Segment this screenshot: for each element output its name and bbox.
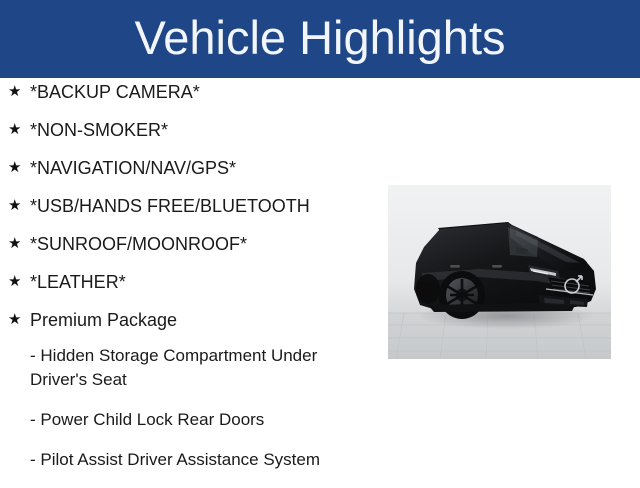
sublist-item: - Pilot Assist Driver Assistance System — [0, 448, 385, 472]
star-bullet-icon: ★ — [8, 154, 30, 182]
star-bullet-icon: ★ — [8, 230, 30, 258]
list-item-label: *LEATHER* — [30, 268, 385, 296]
vehicle-highlights-list: ★ *BACKUP CAMERA* ★ *NON-SMOKER* ★ *NAVI… — [0, 78, 385, 344]
list-item-label: Premium Package — [30, 306, 385, 334]
list-item: ★ *NON-SMOKER* — [0, 116, 385, 154]
star-bullet-icon: ★ — [8, 116, 30, 144]
list-item: ★ *SUNROOF/MOONROOF* — [0, 230, 385, 268]
vehicle-photo — [388, 185, 611, 359]
list-item: ★ *USB/HANDS FREE/BLUETOOTH — [0, 192, 385, 230]
list-item-label: *NON-SMOKER* — [30, 116, 385, 144]
star-bullet-icon: ★ — [8, 192, 30, 220]
list-item-label: *SUNROOF/MOONROOF* — [30, 230, 385, 258]
star-bullet-icon: ★ — [8, 268, 30, 296]
list-item-label: *BACKUP CAMERA* — [30, 78, 385, 106]
list-item-premium-package: ★ Premium Package — [0, 306, 385, 344]
star-bullet-icon: ★ — [8, 306, 30, 334]
sublist-item: - Power Child Lock Rear Doors — [0, 408, 385, 432]
list-item-label: *NAVIGATION/NAV/GPS* — [30, 154, 385, 182]
list-item-label: *USB/HANDS FREE/BLUETOOTH — [30, 192, 385, 220]
page-title: Vehicle Highlights — [135, 14, 506, 65]
list-item: ★ *NAVIGATION/NAV/GPS* — [0, 154, 385, 192]
list-item: ★ *LEATHER* — [0, 268, 385, 306]
sublist-item: - Hidden Storage Compartment Under Drive… — [0, 344, 385, 392]
vehicle-photo-image — [388, 185, 611, 359]
star-bullet-icon: ★ — [8, 78, 30, 106]
premium-package-sublist: - Hidden Storage Compartment Under Drive… — [0, 344, 385, 488]
list-item: ★ *BACKUP CAMERA* — [0, 78, 385, 116]
page-header-banner: Vehicle Highlights — [0, 0, 640, 78]
main-content: ★ *BACKUP CAMERA* ★ *NON-SMOKER* ★ *NAVI… — [0, 78, 640, 480]
